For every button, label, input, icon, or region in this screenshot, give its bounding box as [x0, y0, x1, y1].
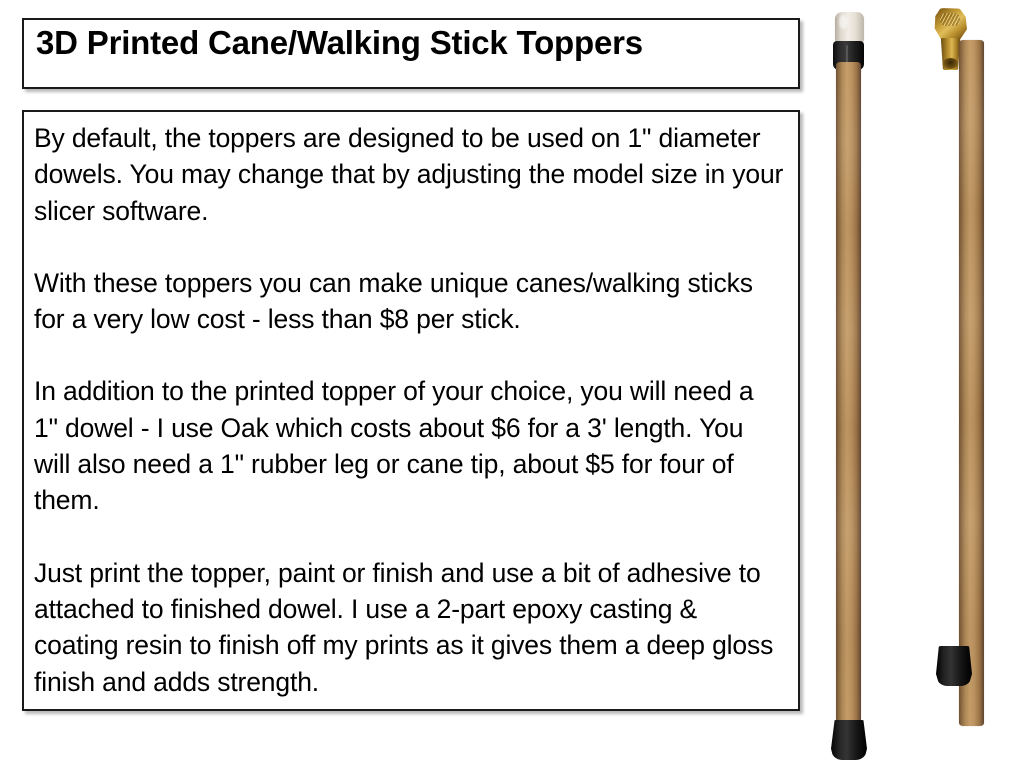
description-card: By default, the toppers are designed to … [22, 110, 800, 711]
paragraph-materials: In addition to the printed topper of you… [34, 373, 784, 518]
black-rubber-cane-tip-right [936, 646, 972, 686]
topper-head-shape [934, 8, 967, 42]
white-ivory-topper-icon [835, 12, 864, 44]
paragraph-cost: With these toppers you can make unique c… [34, 265, 784, 338]
cane-right-photo [934, 0, 1004, 769]
oak-dowel-left [836, 62, 861, 730]
page-title: 3D Printed Cane/Walking Stick Toppers [36, 25, 643, 61]
paragraph-assembly: Just print the topper, paint or finish a… [34, 555, 784, 700]
wood-grain-overlay [959, 40, 984, 726]
wood-grain-overlay [836, 62, 861, 730]
cane-left-photo [818, 0, 878, 769]
title-card: 3D Printed Cane/Walking Stick Toppers [22, 18, 800, 89]
cane-photo-area [806, 0, 1024, 769]
oak-dowel-right [959, 40, 984, 726]
topper-bore-hole [943, 58, 958, 69]
paragraph-defaults: By default, the toppers are designed to … [34, 120, 784, 229]
black-rubber-cane-tip-left [831, 720, 867, 760]
